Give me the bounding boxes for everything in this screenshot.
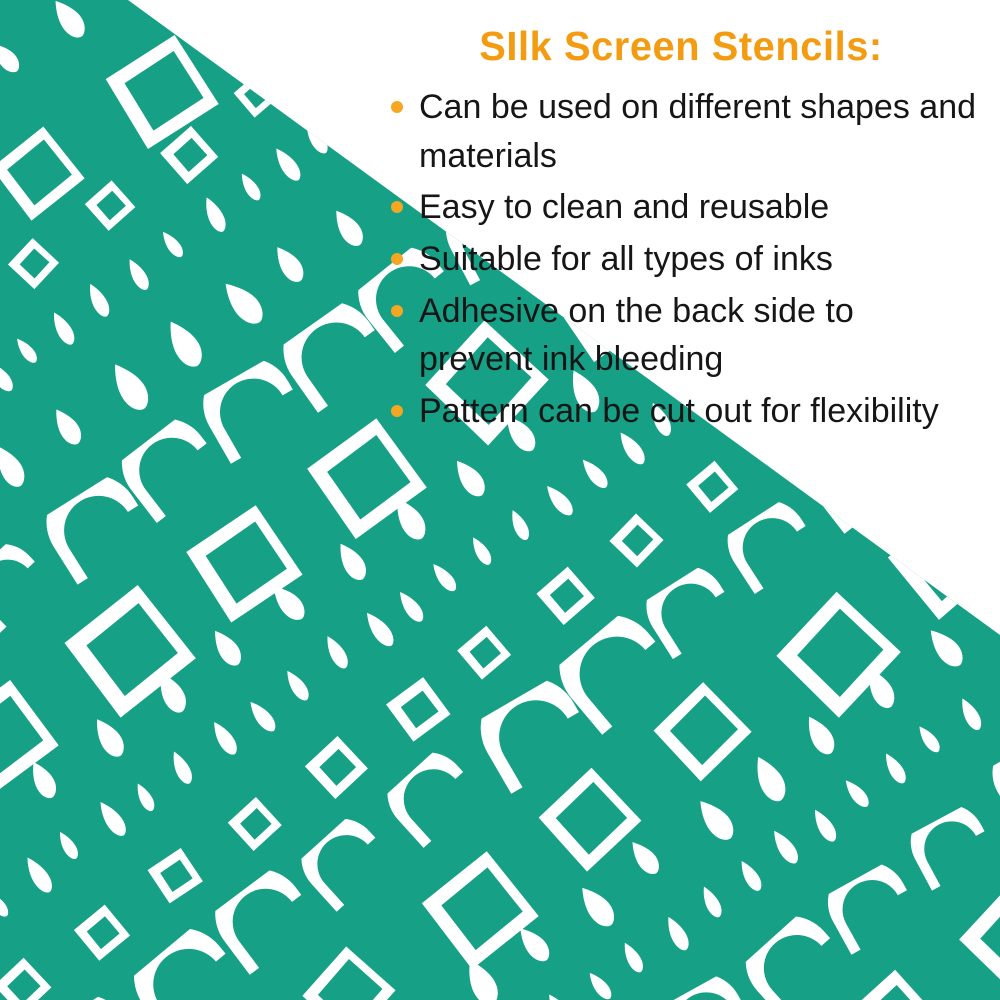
stencil-motif-leaf-comb — [157, 228, 186, 260]
stencil-motif-teardrop — [922, 624, 968, 672]
stencil-motif-teardrop — [0, 803, 3, 845]
stencil-motif-small-square — [0, 956, 53, 1000]
feature-copy-block: SIlk Screen Stencils: Can be used on dif… — [386, 24, 976, 438]
stencil-motif-teardrop — [102, 0, 143, 2]
stencil-motif-square — [535, 764, 645, 874]
stencil-motif-teardrop — [625, 836, 664, 878]
stencil-motif-leaf-comb — [661, 914, 693, 954]
stencil-motif-leaf-comb — [584, 969, 615, 1000]
stencil-motif-teardrop — [216, 276, 269, 330]
stencil-motif-leaf-comb — [199, 194, 230, 234]
stencil-motif-leaf-comb — [808, 806, 841, 844]
stencil-motif-teardrop — [48, 404, 86, 448]
stencil-motif-scallop — [285, 802, 394, 911]
stencil-motif-square — [0, 124, 88, 223]
stencil-motif-teardrop — [104, 357, 155, 415]
stencil-motif-square — [299, 943, 399, 1000]
stencil-motif-teardrop — [573, 881, 620, 932]
stencil-motif-small-square — [684, 459, 740, 515]
stencil-scallop-row — [57, 525, 1000, 1000]
stencil-motif-leaf-comb — [0, 888, 12, 919]
stencil-motif-leaf-comb — [132, 781, 158, 814]
stencil-motif-leaf-comb — [47, 309, 79, 348]
stencil-motif-small-square — [607, 511, 665, 569]
stencil-motif-leaf-comb — [428, 560, 461, 594]
stencil-motif-leaf-comb — [167, 749, 196, 787]
stencil-motif-square — [103, 32, 222, 151]
stencil-motif-leaf-comb — [542, 991, 576, 1000]
stencil-motif-teardrop — [800, 712, 840, 759]
feature-item: Can be used on different shapes and mate… — [386, 83, 976, 180]
stencil-motif-small-square — [6, 236, 61, 291]
stencil-motif-small-square — [383, 0, 444, 19]
stencil-motif-teardrop — [983, 577, 1000, 628]
stencil-motif-scallop — [646, 959, 757, 1000]
bullet-dot-icon — [391, 201, 403, 213]
stencil-motif-leaf-comb — [341, 97, 367, 131]
stencil-motif-scallop — [712, 485, 821, 594]
feature-item: Suitable for all types of inks — [386, 235, 976, 284]
stencil-motif-leaf-comb — [394, 588, 428, 625]
stencil-motif-small-square — [83, 179, 137, 233]
stencil-motif-small-square — [306, 14, 357, 65]
stencil-motif-scallop — [0, 0, 21, 25]
stencil-motif-square — [650, 679, 755, 784]
stencil-motif-small-square — [303, 734, 370, 801]
stencil-motif-leaf-comb — [840, 777, 873, 811]
page-title: SIlk Screen Stencils: — [395, 24, 967, 69]
stencil-motif-scallop — [898, 791, 998, 890]
stencil-motif-small-square — [455, 624, 513, 682]
stencil-motif-leaf-comb — [467, 535, 495, 568]
stencil-motif-leaf-comb — [0, 358, 17, 395]
stencil-motif-leaf-comb — [481, 0, 506, 24]
stencil-motif-leaf-comb — [914, 723, 944, 755]
stencil-motif-teardrop — [269, 242, 309, 287]
stencil-motif-teardrop — [207, 625, 247, 669]
stencil-motif-leaf-comb — [300, 121, 332, 157]
stencil-motif-small-square — [232, 71, 281, 120]
stencil-motif-teardrop — [449, 455, 491, 501]
stencil-motif-small-square — [146, 846, 204, 904]
stencil-motif-leaf-comb — [697, 884, 725, 920]
stencil-motif-leaf-comb — [506, 508, 533, 543]
stencil-motif-leaf-comb — [12, 335, 41, 365]
stencil-motif-leaf-comb — [735, 858, 765, 894]
stencil-motif-scallop — [371, 736, 483, 848]
stencil-motif-teardrop — [748, 752, 792, 806]
stencil-motif-leaf-comb — [880, 750, 910, 786]
stencil-motif-teardrop — [0, 38, 24, 76]
stencil-motif-leaf-comb — [320, 633, 352, 672]
stencil-motif-square — [418, 848, 542, 972]
stencil-motif-square — [954, 869, 1000, 1000]
stencil-motif-square — [212, 0, 316, 60]
stencil-motif-square — [833, 966, 951, 1000]
stencil-motif-scallop — [0, 528, 54, 633]
stencil-motif-teardrop — [691, 794, 739, 845]
product-image: SIlk Screen Stencils: Can be used on dif… — [0, 0, 1000, 1000]
feature-item-label: Can be used on different shapes and mate… — [419, 88, 976, 175]
stencil-motif-teardrop — [160, 315, 209, 372]
feature-item-label: Suitable for all types of inks — [419, 240, 833, 278]
stencil-motif-small-square — [72, 903, 132, 963]
stencil-motif-leaf-comb — [577, 456, 612, 492]
stencil-motif-scallop — [35, 981, 139, 1000]
stencil-motif-leaf-comb — [281, 667, 313, 703]
stencil-motif-leaf-comb — [54, 829, 82, 862]
stencil-motif-leaf-comb — [618, 940, 647, 975]
stencil-motif-square — [0, 193, 2, 316]
bullet-dot-icon — [391, 253, 403, 265]
stencil-motif-leaf-comb — [123, 256, 153, 293]
feature-item: Adhesive on the back side to prevent ink… — [386, 287, 976, 384]
stencil-motif-leaf-comb — [360, 608, 399, 650]
stencil-motif-teardrop — [88, 714, 129, 761]
stencil-motif-leaf-comb — [20, 854, 57, 897]
stencil-motif-teardrop — [0, 441, 30, 491]
stencil-motif-square — [884, 501, 1000, 622]
bullet-dot-icon — [391, 305, 403, 317]
stencil-motif-leaf-comb — [236, 171, 264, 203]
stencil-motif-leaf-comb — [996, 667, 1000, 705]
stencil-motif-small-square — [534, 565, 596, 627]
feature-item-label: Easy to clean and reusable — [419, 188, 829, 226]
stencil-motif-leaf-comb — [541, 482, 577, 519]
stencil-motif-leaf-comb — [269, 145, 305, 185]
stencil-motif-scallop — [979, 721, 1000, 823]
stencil-motif-leaf-comb — [767, 827, 803, 867]
stencil-motif-scallop — [814, 848, 922, 955]
bullet-dot-icon — [391, 405, 403, 417]
stencil-motif-small-square — [226, 795, 284, 853]
stencil-motif-leaf-comb — [83, 281, 114, 320]
bullet-dot-icon — [391, 101, 403, 113]
stencil-motif-teardrop — [328, 205, 368, 250]
stencil-motif-leaf-comb — [244, 698, 280, 735]
feature-item: Pattern can be cut out for flexibility — [386, 387, 976, 436]
stencil-motif-teardrop — [47, 0, 91, 42]
stencil-motif-leaf-comb — [93, 798, 131, 840]
stencil-motif-leaf-comb — [955, 696, 985, 733]
stencil-motif-leaf-comb — [207, 718, 241, 758]
feature-item-label: Adhesive on the back side to prevent ink… — [419, 292, 854, 379]
feature-list: Can be used on different shapes and mate… — [386, 83, 976, 435]
stencil-motif-teardrop — [332, 538, 372, 584]
feature-item-label: Pattern can be cut out for flexibility — [419, 392, 939, 430]
feature-item: Easy to clean and reusable — [386, 183, 976, 232]
stencil-motif-small-square — [384, 675, 452, 743]
